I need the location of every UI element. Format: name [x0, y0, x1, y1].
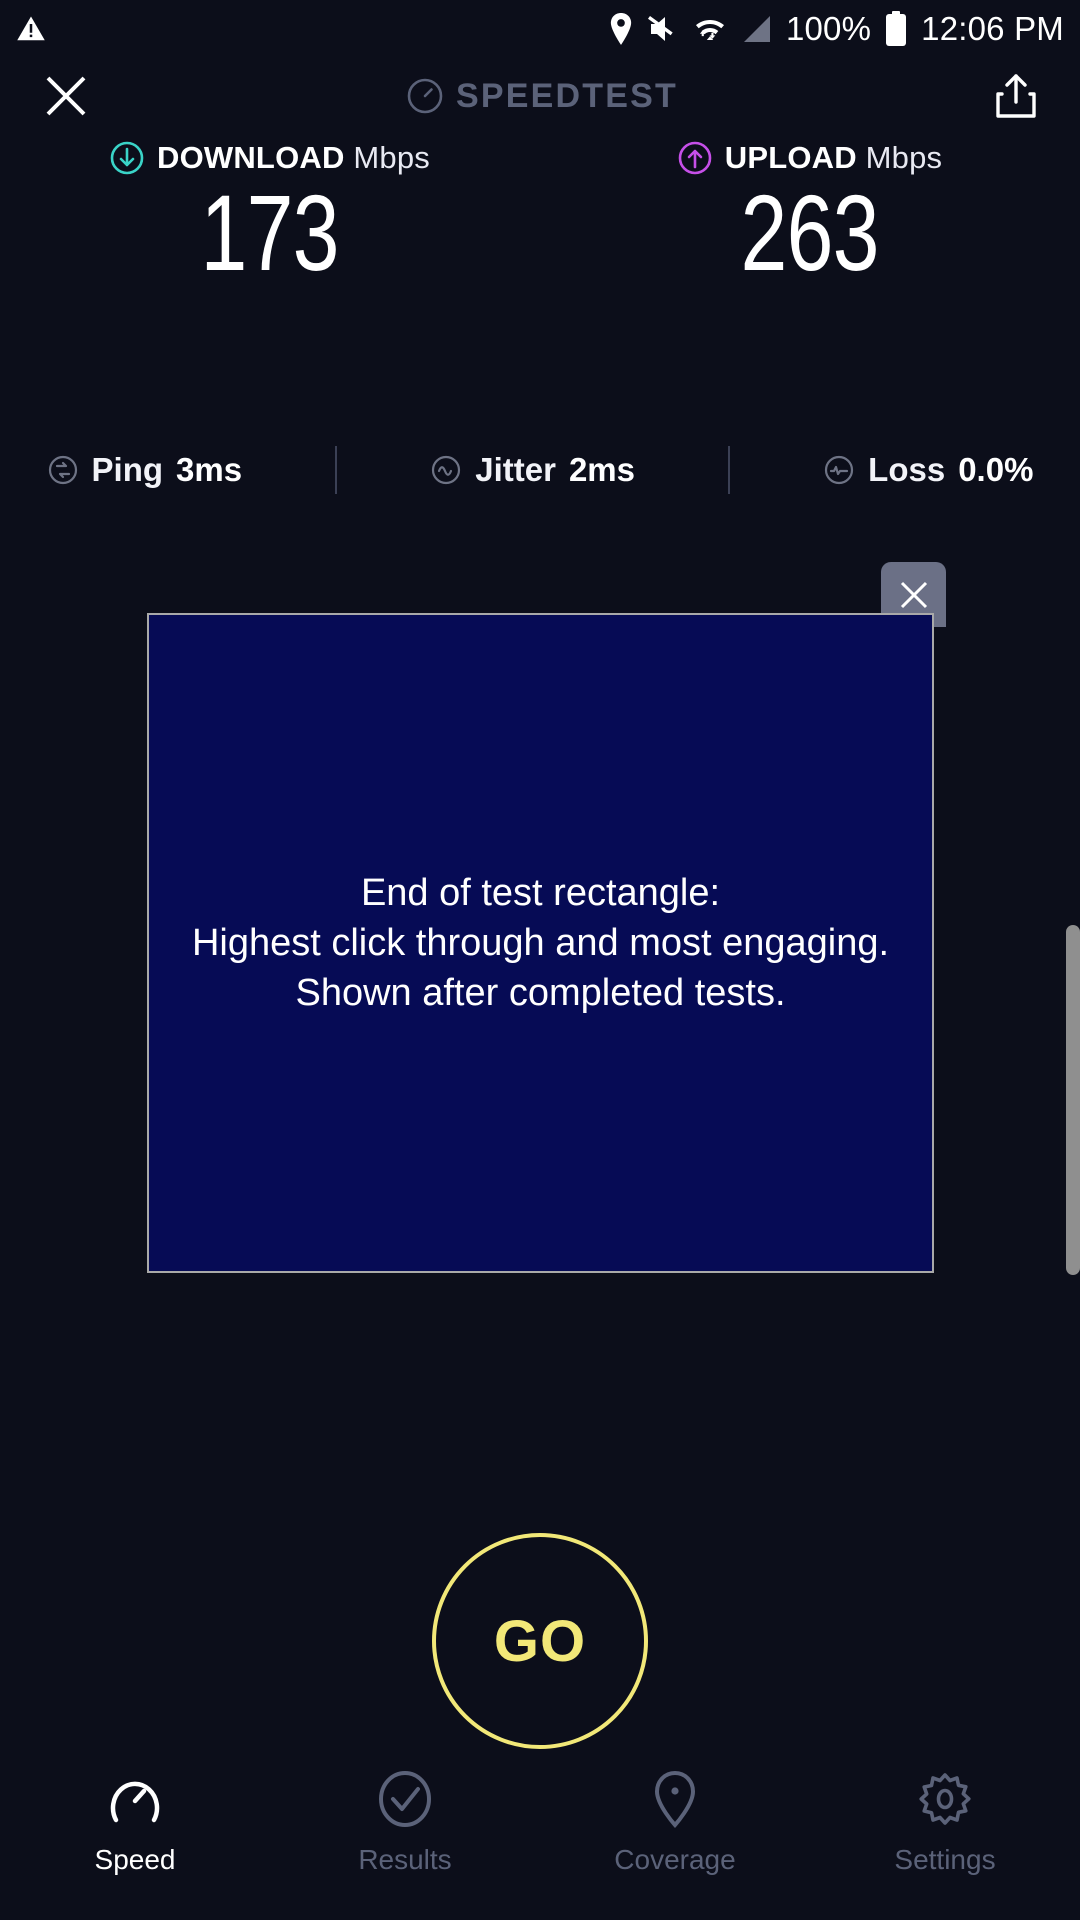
gear-icon [914, 1768, 976, 1830]
nav-item-coverage[interactable]: Coverage [540, 1768, 810, 1876]
status-bar-clock: 12:06 PM [921, 10, 1064, 48]
ad-close-x-icon [897, 578, 931, 612]
status-bar-left [16, 14, 46, 44]
upload-header: UPLOAD Mbps [678, 140, 943, 176]
location-pin-icon [608, 13, 634, 45]
upload-value: 263 [741, 178, 879, 288]
wifi-icon [694, 13, 726, 45]
nav-item-speed[interactable]: Speed [0, 1768, 270, 1876]
brand-title: SPEEDTEST [456, 77, 678, 116]
stat-divider [728, 446, 730, 494]
download-upload-row: DOWNLOAD Mbps 173 UPLOAD Mbps 263 [0, 140, 1080, 288]
page-scrollbar[interactable] [1066, 925, 1080, 1275]
battery-percent-label: 100% [786, 10, 871, 48]
nav-item-settings[interactable]: Settings [810, 1768, 1080, 1876]
volume-mute-icon [648, 14, 680, 44]
upload-label: UPLOAD Mbps [725, 140, 943, 176]
loss-label: Loss [868, 451, 945, 489]
battery-full-icon [885, 11, 907, 47]
ping-label: Ping [92, 451, 164, 489]
nav-label-settings: Settings [894, 1844, 995, 1876]
status-bar-right: 100% 12:06 PM [608, 10, 1064, 48]
jitter-icon [430, 454, 462, 486]
ping-jitter-loss-row: Ping 3ms Jitter 2ms Loss 0.0% [0, 440, 1080, 500]
nav-label-results: Results [358, 1844, 451, 1876]
download-header: DOWNLOAD Mbps [110, 140, 430, 176]
location-pin-icon [644, 1768, 706, 1830]
nav-label-coverage: Coverage [614, 1844, 735, 1876]
stat-ping: Ping 3ms [47, 451, 243, 489]
check-circle-icon [374, 1768, 436, 1830]
app-header: SPEEDTEST [0, 58, 1080, 134]
loss-value: 0.0% [958, 451, 1033, 489]
ping-icon [47, 454, 79, 486]
status-bar: 100% 12:06 PM [0, 0, 1080, 58]
download-metric: DOWNLOAD Mbps 173 [0, 140, 540, 288]
loss-icon [823, 454, 855, 486]
nav-item-results[interactable]: Results [270, 1768, 540, 1876]
download-label: DOWNLOAD Mbps [157, 140, 430, 176]
speedometer-icon [406, 77, 444, 115]
jitter-label: Jitter [475, 451, 556, 489]
nav-label-speed: Speed [95, 1844, 176, 1876]
jitter-value: 2ms [569, 451, 635, 489]
go-button[interactable]: GO [432, 1533, 648, 1749]
download-value: 173 [201, 178, 339, 288]
upload-arrow-icon [678, 141, 712, 175]
go-button-label: GO [494, 1608, 586, 1675]
advertisement-banner[interactable]: End of test rectangle: Highest click thr… [147, 613, 934, 1273]
upload-metric: UPLOAD Mbps 263 [540, 140, 1080, 288]
stat-loss: Loss 0.0% [823, 451, 1033, 489]
speedometer-icon [104, 1768, 166, 1830]
cellular-signal-icon [740, 14, 772, 44]
download-arrow-icon [110, 141, 144, 175]
results-summary: DOWNLOAD Mbps 173 UPLOAD Mbps 263 [0, 140, 1080, 288]
close-x-icon[interactable] [42, 72, 90, 120]
ad-text: End of test rectangle: Highest click thr… [192, 868, 889, 1018]
brand-logo: SPEEDTEST [406, 77, 678, 116]
warning-triangle-icon [16, 14, 46, 44]
stat-jitter: Jitter 2ms [430, 451, 635, 489]
stat-divider [335, 446, 337, 494]
bottom-navigation: Speed Results Coverage Settings [0, 1752, 1080, 1920]
speedtest-app-screen: 100% 12:06 PM SPEEDTEST [0, 0, 1080, 1920]
ping-value: 3ms [176, 451, 242, 489]
share-upload-icon[interactable] [994, 72, 1038, 120]
